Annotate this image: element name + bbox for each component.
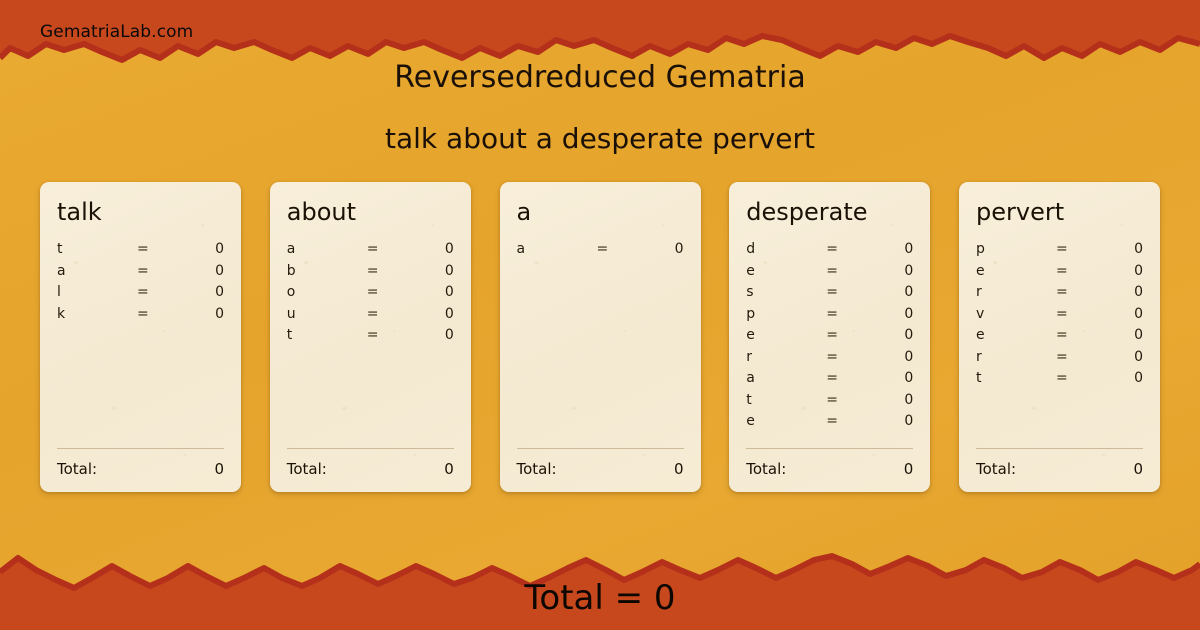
equals-sign: =: [137, 306, 171, 322]
letter-glyph: e: [746, 413, 826, 429]
letter-row: p=0: [976, 241, 1143, 263]
letter-rows: a=0b=0o=0u=0t=0: [287, 241, 454, 349]
equals-sign: =: [826, 284, 860, 300]
card-total-row: Total:0: [976, 460, 1143, 478]
letter-glyph: o: [287, 284, 367, 300]
letter-row: r=0: [746, 349, 913, 371]
card-total-label: Total:: [287, 460, 444, 478]
word-card-list: talkt=0a=0l=0k=0Total:0abouta=0b=0o=0u=0…: [40, 182, 1160, 492]
letter-glyph: r: [746, 349, 826, 365]
letter-value: 0: [401, 241, 454, 257]
divider: [746, 448, 913, 449]
word-card[interactable]: pervertp=0e=0r=0v=0e=0r=0t=0Total:0: [959, 182, 1160, 492]
equals-sign: =: [137, 263, 171, 279]
letter-row: v=0: [976, 306, 1143, 328]
letter-value: 0: [171, 284, 224, 300]
equals-sign: =: [367, 327, 401, 343]
card-footer: Total:0: [57, 448, 224, 478]
letter-value: 0: [171, 306, 224, 322]
letter-glyph: a: [746, 370, 826, 386]
phrase-subtitle: talk about a desperate pervert: [0, 122, 1200, 155]
equals-sign: =: [826, 241, 860, 257]
letter-glyph: u: [287, 306, 367, 322]
letter-glyph: e: [976, 263, 1056, 279]
letter-rows: p=0e=0r=0v=0e=0r=0t=0: [976, 241, 1143, 392]
card-total-value: 0: [904, 460, 914, 478]
letter-row: p=0: [746, 306, 913, 328]
letter-glyph: t: [57, 241, 137, 257]
equals-sign: =: [826, 349, 860, 365]
card-total-row: Total:0: [746, 460, 913, 478]
letter-glyph: r: [976, 349, 1056, 365]
letter-value: 0: [860, 284, 913, 300]
letter-row: a=0: [746, 370, 913, 392]
letter-glyph: e: [746, 327, 826, 343]
equals-sign: =: [137, 284, 171, 300]
letter-glyph: e: [746, 263, 826, 279]
gematria-poster: GematriaLab.com Reversedreduced Gematria…: [0, 0, 1200, 630]
card-total-value: 0: [444, 460, 454, 478]
letter-value: 0: [401, 263, 454, 279]
card-total-label: Total:: [57, 460, 214, 478]
letter-glyph: l: [57, 284, 137, 300]
card-word: talk: [57, 200, 224, 225]
letter-row: l=0: [57, 284, 224, 306]
letter-value: 0: [171, 241, 224, 257]
card-total-row: Total:0: [287, 460, 454, 478]
letter-row: a=0: [287, 241, 454, 263]
letter-glyph: t: [976, 370, 1056, 386]
letter-value: 0: [860, 241, 913, 257]
letter-row: d=0: [746, 241, 913, 263]
equals-sign: =: [367, 284, 401, 300]
card-word: a: [517, 200, 684, 225]
equals-sign: =: [1056, 370, 1090, 386]
card-footer: Total:0: [746, 448, 913, 478]
letter-row: t=0: [976, 370, 1143, 392]
letter-glyph: a: [57, 263, 137, 279]
grand-total: Total = 0: [0, 578, 1200, 618]
equals-sign: =: [597, 241, 631, 257]
letter-value: 0: [860, 263, 913, 279]
letter-glyph: t: [287, 327, 367, 343]
letter-row: t=0: [57, 241, 224, 263]
word-card[interactable]: abouta=0b=0o=0u=0t=0Total:0: [270, 182, 471, 492]
equals-sign: =: [1056, 241, 1090, 257]
letter-value: 0: [401, 306, 454, 322]
letter-value: 0: [860, 349, 913, 365]
card-word: desperate: [746, 200, 913, 225]
equals-sign: =: [367, 306, 401, 322]
letter-glyph: k: [57, 306, 137, 322]
card-word: pervert: [976, 200, 1143, 225]
letter-glyph: d: [746, 241, 826, 257]
letter-row: o=0: [287, 284, 454, 306]
letter-glyph: p: [746, 306, 826, 322]
letter-value: 0: [1090, 370, 1143, 386]
card-total-label: Total:: [976, 460, 1133, 478]
card-footer: Total:0: [976, 448, 1143, 478]
divider: [976, 448, 1143, 449]
letter-row: a=0: [57, 263, 224, 285]
letter-glyph: b: [287, 263, 367, 279]
equals-sign: =: [137, 241, 171, 257]
letter-row: b=0: [287, 263, 454, 285]
letter-row: e=0: [746, 327, 913, 349]
letter-glyph: a: [517, 241, 597, 257]
card-total-value: 0: [214, 460, 224, 478]
equals-sign: =: [1056, 349, 1090, 365]
letter-row: r=0: [976, 349, 1143, 371]
card-total-row: Total:0: [517, 460, 684, 478]
letter-value: 0: [631, 241, 684, 257]
equals-sign: =: [826, 370, 860, 386]
letter-glyph: s: [746, 284, 826, 300]
letter-glyph: a: [287, 241, 367, 257]
equals-sign: =: [1056, 263, 1090, 279]
letter-value: 0: [171, 263, 224, 279]
word-card[interactable]: aa=0Total:0: [500, 182, 701, 492]
card-footer: Total:0: [287, 448, 454, 478]
letter-rows: d=0e=0s=0p=0e=0r=0a=0t=0e=0: [746, 241, 913, 435]
card-total-label: Total:: [746, 460, 903, 478]
letter-row: e=0: [976, 327, 1143, 349]
letter-glyph: p: [976, 241, 1056, 257]
letter-row: s=0: [746, 284, 913, 306]
card-total-row: Total:0: [57, 460, 224, 478]
card-total-value: 0: [1133, 460, 1143, 478]
card-word: about: [287, 200, 454, 225]
letter-value: 0: [860, 327, 913, 343]
equals-sign: =: [1056, 306, 1090, 322]
letter-row: e=0: [976, 263, 1143, 285]
equals-sign: =: [367, 241, 401, 257]
letter-value: 0: [860, 413, 913, 429]
equals-sign: =: [826, 392, 860, 408]
equals-sign: =: [1056, 327, 1090, 343]
equals-sign: =: [367, 263, 401, 279]
letter-glyph: e: [976, 327, 1056, 343]
letter-glyph: v: [976, 306, 1056, 322]
equals-sign: =: [826, 263, 860, 279]
letter-row: r=0: [976, 284, 1143, 306]
letter-glyph: t: [746, 392, 826, 408]
letter-value: 0: [860, 306, 913, 322]
equals-sign: =: [1056, 284, 1090, 300]
page-title: Reversedreduced Gematria: [0, 60, 1200, 95]
letter-row: t=0: [746, 392, 913, 414]
letter-value: 0: [1090, 284, 1143, 300]
card-footer: Total:0: [517, 448, 684, 478]
letter-value: 0: [1090, 306, 1143, 322]
letter-value: 0: [1090, 327, 1143, 343]
letter-value: 0: [1090, 241, 1143, 257]
site-logo[interactable]: GematriaLab.com: [40, 22, 193, 42]
letter-row: e=0: [746, 263, 913, 285]
letter-value: 0: [1090, 263, 1143, 279]
letter-rows: a=0: [517, 241, 684, 263]
divider: [517, 448, 684, 449]
letter-rows: t=0a=0l=0k=0: [57, 241, 224, 327]
letter-value: 0: [401, 284, 454, 300]
letter-row: a=0: [517, 241, 684, 263]
letter-row: e=0: [746, 413, 913, 435]
letter-value: 0: [860, 370, 913, 386]
divider: [287, 448, 454, 449]
letter-value: 0: [860, 392, 913, 408]
letter-value: 0: [1090, 349, 1143, 365]
letter-row: k=0: [57, 306, 224, 328]
letter-value: 0: [401, 327, 454, 343]
card-total-value: 0: [674, 460, 684, 478]
word-card[interactable]: talkt=0a=0l=0k=0Total:0: [40, 182, 241, 492]
equals-sign: =: [826, 327, 860, 343]
divider: [57, 448, 224, 449]
equals-sign: =: [826, 306, 860, 322]
word-card[interactable]: desperated=0e=0s=0p=0e=0r=0a=0t=0e=0Tota…: [729, 182, 930, 492]
equals-sign: =: [826, 413, 860, 429]
letter-row: u=0: [287, 306, 454, 328]
letter-glyph: r: [976, 284, 1056, 300]
letter-row: t=0: [287, 327, 454, 349]
card-total-label: Total:: [517, 460, 674, 478]
